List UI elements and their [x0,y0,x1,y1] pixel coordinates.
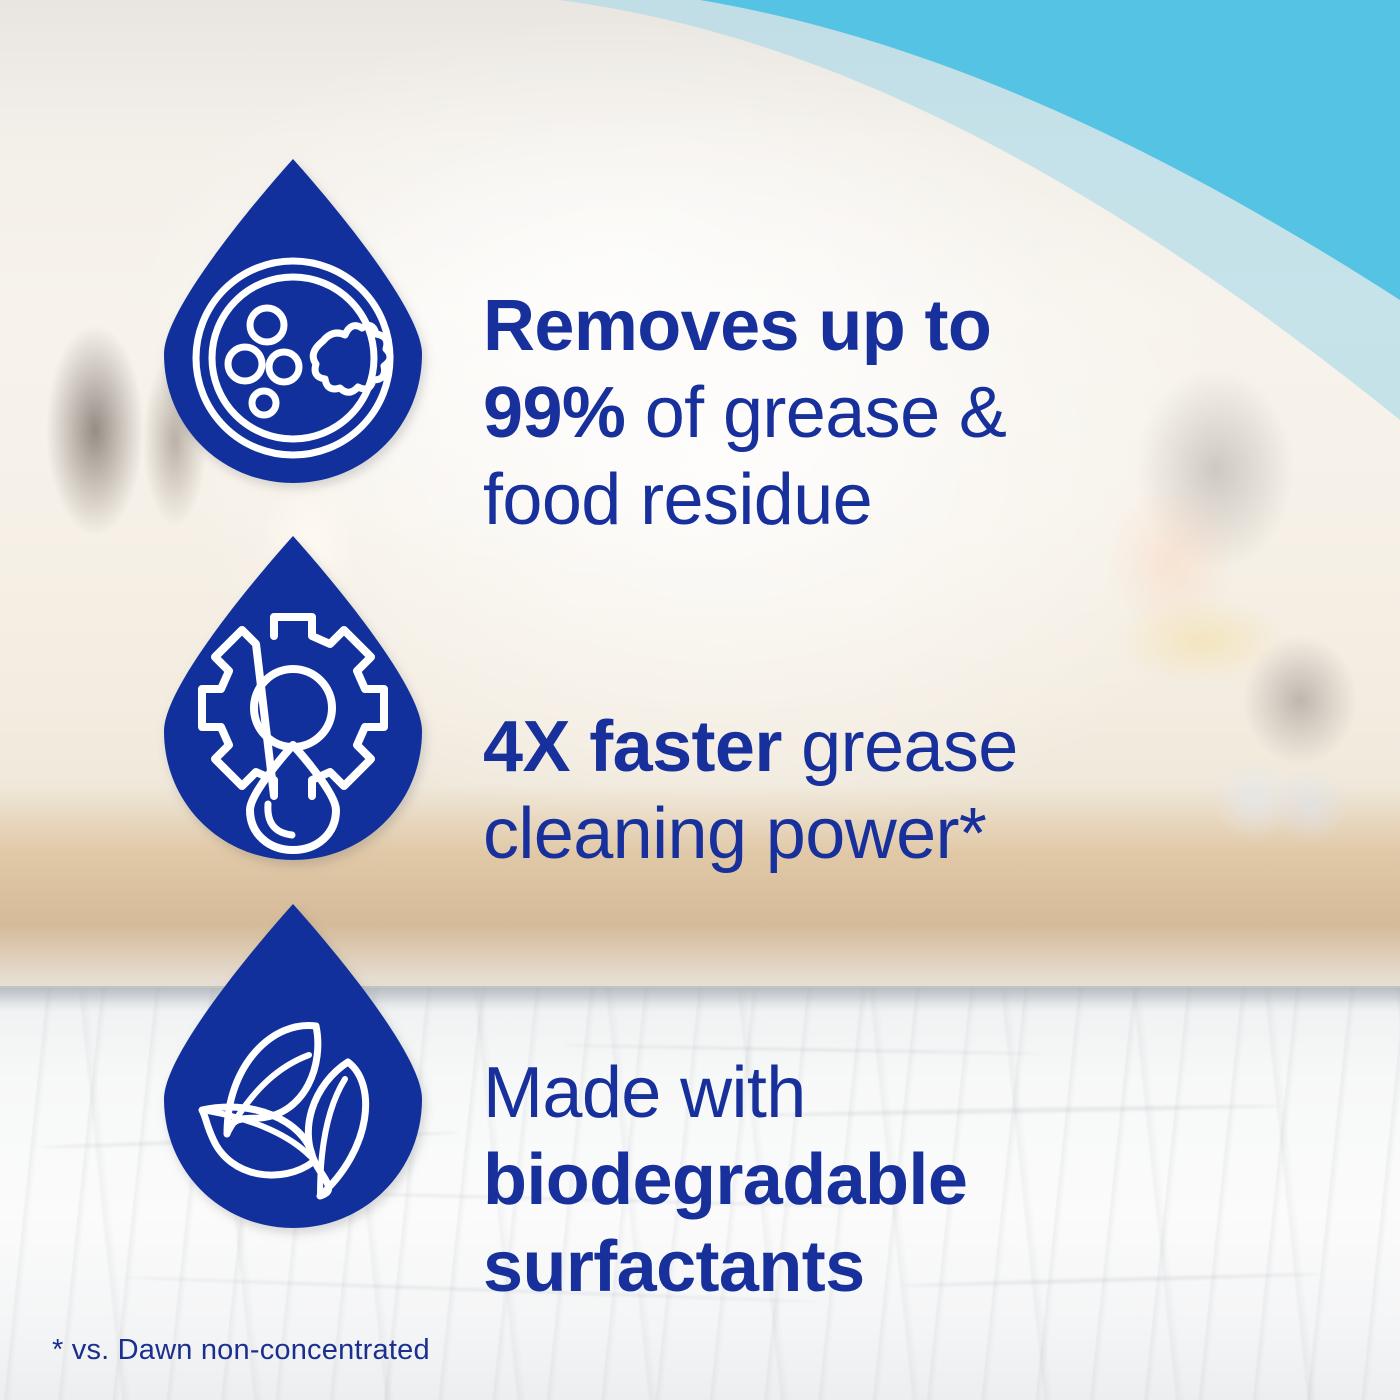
benefit-3-bold: biodegradable surfactants [483,1140,967,1307]
benefit-row-cleaning-speed [160,532,426,864]
droplet-badge-svg [160,155,426,487]
benefit-text-biodegradable: Made with biodegradable surfactants [483,963,1123,1311]
benefit-3-lead: Made with [483,1053,806,1133]
benefit-row-biodegradable [160,900,426,1232]
gear-with-droplet-icon [160,532,426,864]
plate-with-bubbles-and-stain-icon [160,155,426,487]
benefit-text-cleaning-speed: 4X faster grease cleaning power* [483,617,1123,878]
droplet-badge-svg [160,532,426,864]
three-leaves-recycle-icon [160,900,426,1232]
benefit-row-grease-removal [160,155,426,487]
droplet-shape [164,904,422,1228]
footnote-disclaimer: * vs. Dawn non-concentrated [52,1334,430,1367]
product-benefits-poster: Removes up to 99% of grease & food resid… [0,0,1400,1400]
benefit-text-grease-removal: Removes up to 99% of grease & food resid… [483,196,1123,544]
benefit-2-bold: 4X faster [483,707,782,787]
droplet-badge-svg [160,900,426,1232]
